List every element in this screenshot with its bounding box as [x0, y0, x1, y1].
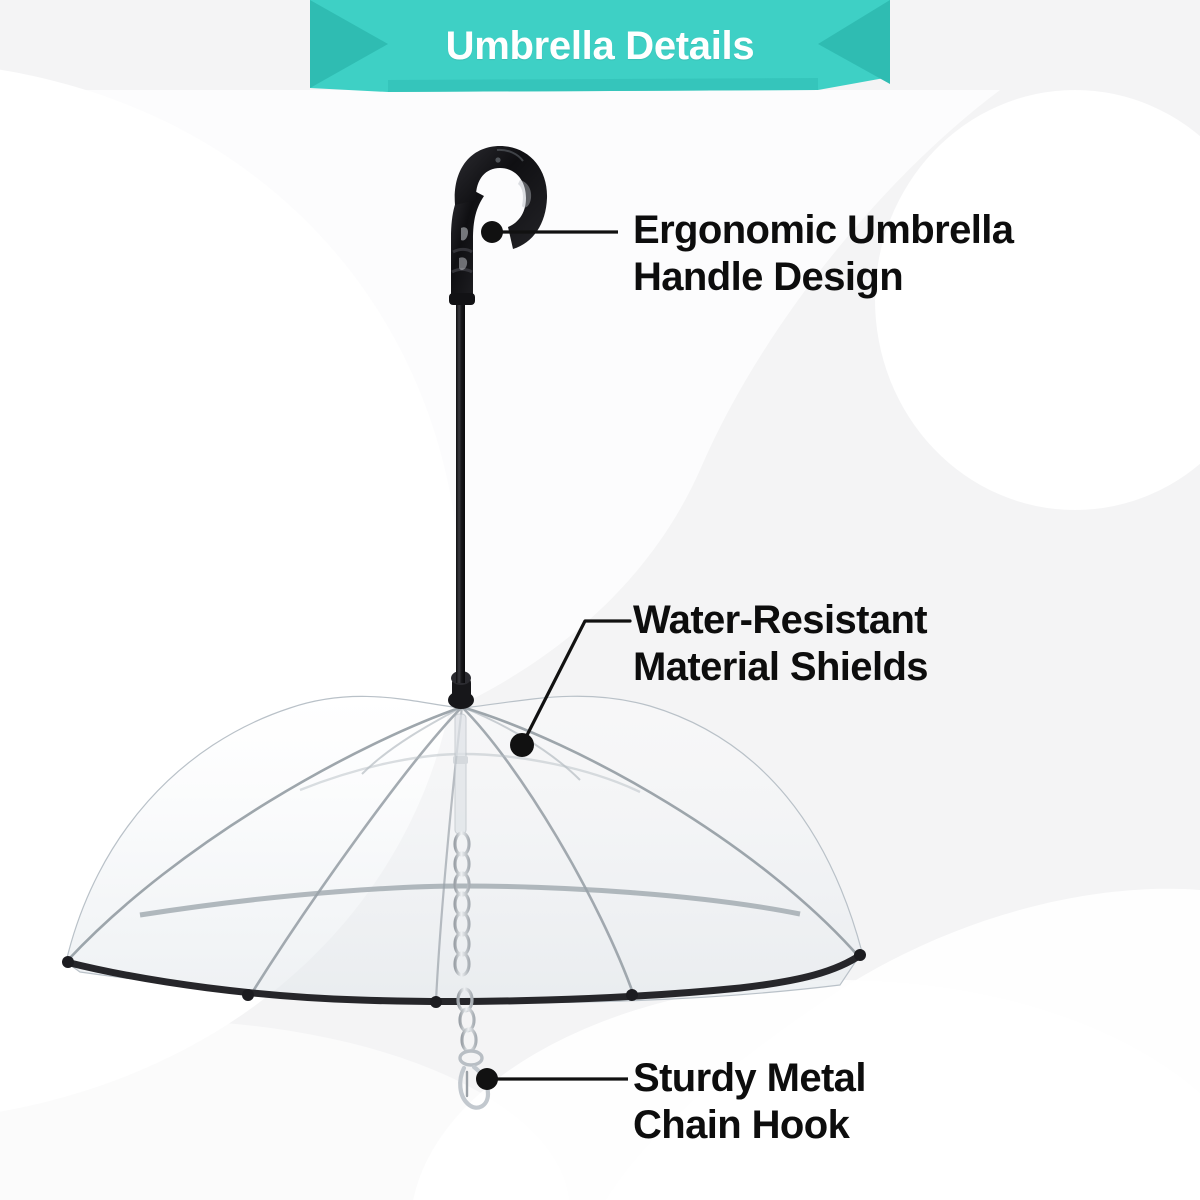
canopy-rib-tip: [62, 956, 74, 968]
chain-snap-hook: [460, 1051, 488, 1108]
canopy-rib-tip: [626, 989, 638, 1001]
header-ribbon-banner: Umbrella Details: [310, 0, 890, 100]
product-detail-infographic: Ergonomic Umbrella Handle Design Water-R…: [0, 0, 1200, 1200]
umbrella-runner: [453, 714, 468, 834]
callout-label-chain-hook: Sturdy Metal Chain Hook: [633, 1055, 1173, 1149]
canopy-rib-tip: [430, 996, 442, 1008]
umbrella-handle: [449, 146, 547, 305]
ribbon-shape: [310, 0, 890, 100]
canopy-rib-tip: [854, 949, 866, 961]
ribbon-bottom-shade: [388, 78, 818, 92]
callout-label-water-resistant: Water-Resistant Material Shields: [633, 597, 1173, 691]
umbrella-shaft: [456, 303, 465, 683]
callout-label-ergonomic-handle: Ergonomic Umbrella Handle Design: [633, 207, 1173, 301]
canopy-rib-tip: [242, 989, 254, 1001]
